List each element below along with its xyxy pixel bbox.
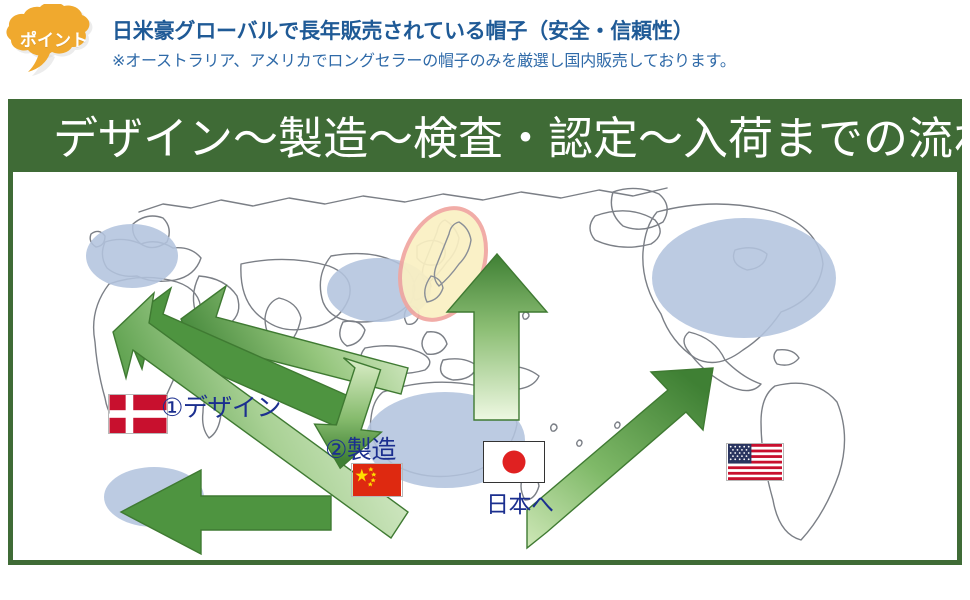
header-text-block: 日米豪グローバルで長年販売されている帽子（安全・信頼性） ※オーストラリア、アメ… — [112, 18, 962, 72]
header-title: 日米豪グローバルで長年販売されている帽子（安全・信頼性） — [112, 18, 962, 44]
infographic-root: ポイント 日米豪グローバルで長年販売されている帽子（安全・信頼性） ※オーストラ… — [0, 0, 970, 600]
point-badge-label: ポイント — [4, 26, 104, 51]
label-manufacture: ②製造 — [325, 430, 396, 466]
flow-panel: デザイン〜製造〜検査・認定〜入荷までの流れ — [8, 99, 962, 565]
label-to-japan: 日本へ — [486, 485, 554, 519]
usa-flag — [726, 443, 784, 481]
header-subtitle: ※オーストラリア、アメリカでロングセラーの帽子のみを厳選し国内販売しております。 — [112, 50, 962, 72]
china-flag — [351, 463, 403, 497]
arrow-australia-to-usa — [527, 368, 713, 548]
denmark-flag — [108, 394, 168, 434]
header: ポイント 日米豪グローバルで長年販売されている帽子（安全・信頼性） ※オーストラ… — [0, 0, 970, 96]
japan-flag — [483, 441, 545, 483]
point-badge: ポイント — [4, 4, 104, 84]
label-design: ①デザイン — [161, 388, 281, 424]
world-map-graphic — [13, 172, 957, 560]
panel-title: デザイン〜製造〜検査・認定〜入荷までの流れ — [53, 110, 970, 168]
world-map-area: ①デザイン ②製造 日本へ ③紫外線防止指数（UPF50+）検査 UPF50+：… — [13, 172, 957, 560]
